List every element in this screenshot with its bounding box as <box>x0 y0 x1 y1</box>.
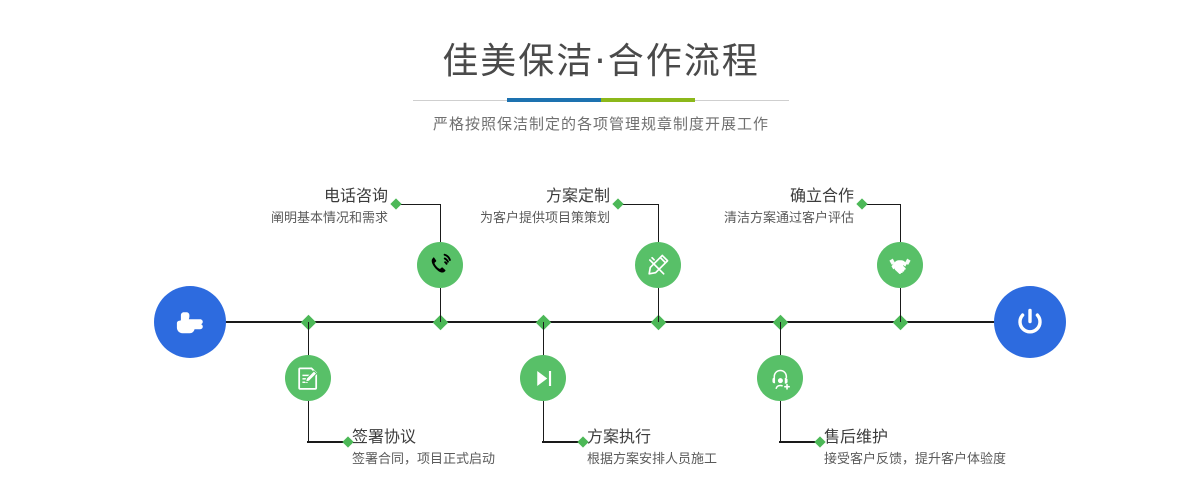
phone-call-icon <box>427 252 454 279</box>
flow-label-desc-step-1: 阐明基本情况和需求 <box>170 209 388 228</box>
power-button-icon <box>1010 302 1050 342</box>
flow-label-step-5: 确立合作 清洁方案通过客户评估 <box>646 186 854 228</box>
flow-node-step-5[interactable] <box>877 242 923 288</box>
flow-label-desc-step-5: 清洁方案通过客户评估 <box>646 209 854 228</box>
flow-label-desc-step-3: 为客户提供项目策策划 <box>400 209 610 228</box>
connector-vertical-step-6-upper <box>780 322 782 356</box>
headset-plus-icon <box>768 366 793 391</box>
flow-label-title-step-1: 电话咨询 <box>170 186 388 206</box>
connector-vertical-step-4-upper <box>543 322 545 356</box>
flow-label-title-step-3: 方案定制 <box>400 186 610 206</box>
connector-vertical-step-3-lower <box>658 288 660 322</box>
flow-label-desc-step-2: 签署合同，项目正式启动 <box>352 450 612 469</box>
flow-label-step-4: 方案执行 根据方案安排人员施工 <box>587 427 847 469</box>
cooperation-flow-page: 佳美保洁·合作流程 严格按照保洁制定的各项管理规章制度开展工作 <box>0 0 1202 502</box>
flow-label-title-step-2: 签署协议 <box>352 427 612 447</box>
connector-vertical-step-5-lower <box>900 288 902 322</box>
connector-vertical-step-5-upper <box>900 204 902 242</box>
connector-vertical-step-2-lower <box>308 401 310 442</box>
play-end-icon <box>531 366 556 391</box>
connector-horizontal-step-4 <box>542 441 581 443</box>
flow-label-step-6: 售后维护 接受客户反馈，提升客户体验度 <box>824 427 1104 469</box>
flow-start-node[interactable] <box>154 286 226 358</box>
connector-vertical-step-1-lower <box>440 288 442 322</box>
flow-node-step-1[interactable] <box>417 242 463 288</box>
connector-vertical-step-4-lower <box>543 401 545 442</box>
flow-node-step-3[interactable] <box>635 242 681 288</box>
flow-label-step-1: 电话咨询 阐明基本情况和需求 <box>170 186 388 228</box>
connector-horizontal-step-2 <box>307 441 346 443</box>
label-marker-step-5 <box>856 198 867 209</box>
flow-label-desc-step-4: 根据方案安排人员施工 <box>587 450 847 469</box>
flow-node-step-4[interactable] <box>520 355 566 401</box>
flow-node-step-2[interactable] <box>285 355 331 401</box>
handshake-icon <box>887 252 913 278</box>
flow-end-node[interactable] <box>994 286 1066 358</box>
connector-vertical-step-6-lower <box>780 401 782 442</box>
flow-label-step-2: 签署协议 签署合同，项目正式启动 <box>352 427 612 469</box>
label-marker-step-3 <box>612 198 623 209</box>
flow-node-step-6[interactable] <box>757 355 803 401</box>
document-pen-icon <box>295 365 321 391</box>
flow-label-desc-step-6: 接受客户反馈，提升客户体验度 <box>824 450 1104 469</box>
pointing-hand-icon <box>170 302 210 342</box>
pencil-ruler-icon <box>645 252 671 278</box>
flow-label-title-step-5: 确立合作 <box>646 186 854 206</box>
connector-vertical-step-2-upper <box>308 322 310 356</box>
flow-label-title-step-4: 方案执行 <box>587 427 847 447</box>
flow-label-step-3: 方案定制 为客户提供项目策策划 <box>400 186 610 228</box>
flow-label-title-step-6: 售后维护 <box>824 427 1104 447</box>
connector-horizontal-step-6 <box>779 441 818 443</box>
flow-diagram: 电话咨询 阐明基本情况和需求 签署协议 签署合同，项目正式启动 <box>0 0 1202 502</box>
